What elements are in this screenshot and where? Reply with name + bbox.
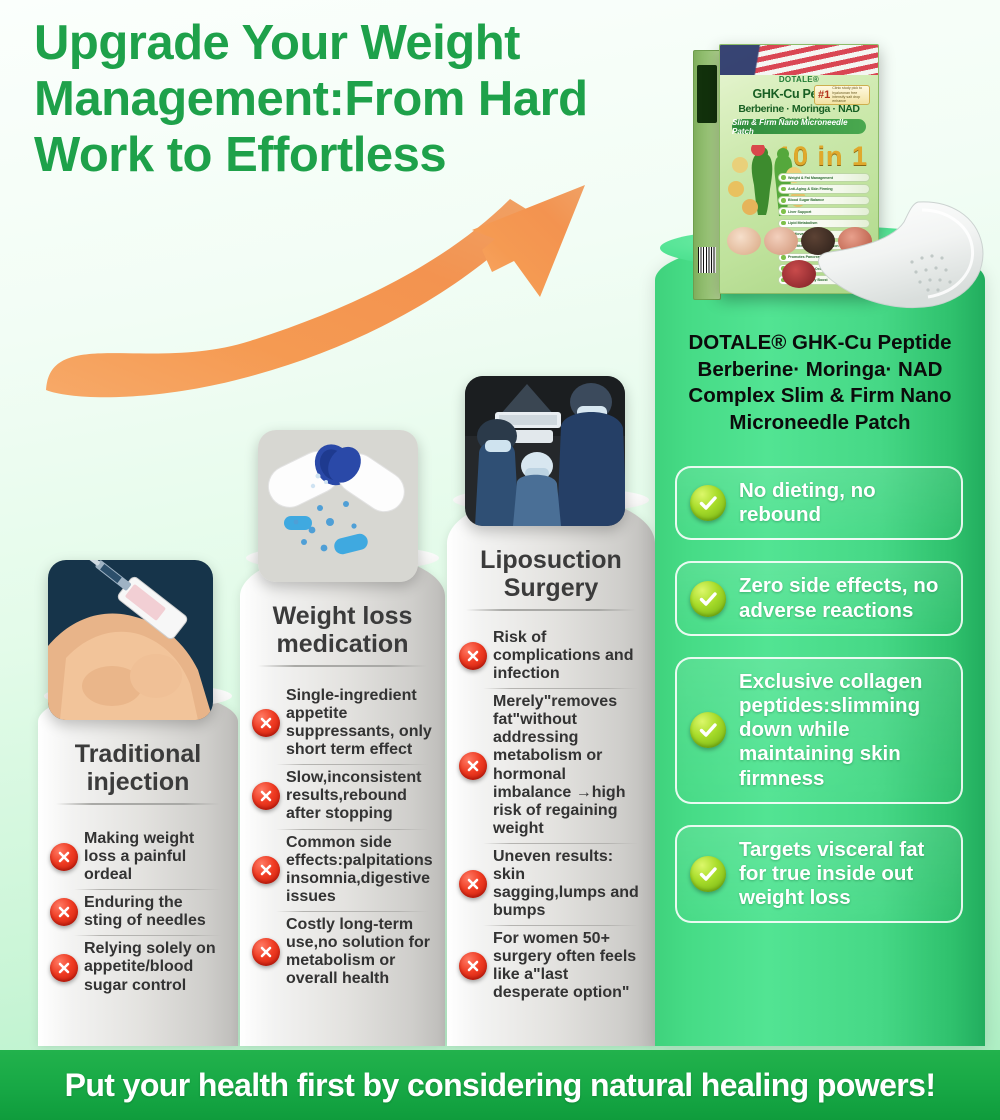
box-feature: Anti-Aging & Skin Firming [778, 184, 870, 193]
number-one-badge: #1 Clinic study pick to hyaluronan free … [814, 85, 870, 105]
check-icon [690, 856, 726, 892]
benefit-card: No dieting, no rebound [675, 466, 963, 540]
list-item-text: Risk of complications and infection [493, 629, 642, 683]
benefit-card: Zero side effects, no adverse reactions [675, 561, 963, 635]
box-brand: DOTALE® [720, 75, 878, 84]
badge-number: #1 [818, 89, 830, 101]
box-ribbon: Slim & Firm Nano Microneedle Patch [732, 119, 866, 134]
product-title: DOTALE® GHK-Cu Peptide Berberine· Moring… [669, 330, 971, 437]
box-spine-graphic [697, 65, 717, 123]
page-headline: Upgrade Your Weight Management:From Hard… [34, 16, 674, 184]
x-icon [50, 954, 78, 982]
benefit-text: Targets visceral fat for true inside out… [739, 838, 949, 911]
pillar-bullet-list: Single-ingredient appetite suppressants,… [240, 682, 445, 993]
list-item-text: Single-ingredient appetite suppressants,… [286, 687, 432, 759]
pillar-title: Weight loss medication [240, 602, 445, 658]
list-item-text: Costly long-term use,no solution for met… [286, 916, 432, 988]
benefit-text: Zero side effects, no adverse reactions [739, 574, 949, 622]
badge-text: Clinic study pick to hyaluronan free int… [832, 86, 869, 104]
insulin-injection-photo [48, 560, 213, 720]
box-photo [764, 227, 798, 255]
list-item-text: For women 50+ surgery often feels like a… [493, 930, 642, 1002]
pillar-weight-loss-medication: Weight loss medication Single-ingredient… [240, 430, 445, 1046]
operating-room-photo [465, 376, 625, 526]
product-pedestal: DOTALE® GHK-Cu Peptide Berberine· Moring… [655, 238, 985, 1046]
product-benefit-list: No dieting, no rebound Zero side effects… [675, 466, 963, 944]
list-item-text: Relying solely on appetite/blood sugar c… [84, 940, 225, 994]
list-item-text: Uneven results: skin sagging,lumps and b… [493, 848, 642, 920]
pillar-title: Traditional injection [38, 740, 238, 796]
list-item: For women 50+ surgery often feels like a… [453, 925, 649, 1007]
list-item: Slow,inconsistent results,rebound after … [246, 764, 439, 828]
list-item: Costly long-term use,no solution for met… [246, 911, 439, 993]
pillar-traditional-injection: Traditional injection Making weight loss… [38, 560, 238, 1046]
barcode [698, 247, 716, 273]
box-photo [727, 227, 761, 255]
usa-flag-banner [720, 45, 878, 75]
bottom-banner: Put your health first by considering nat… [0, 1050, 1000, 1120]
list-item-text: Making weight loss a painful ordeal [84, 830, 225, 884]
check-icon [690, 712, 726, 748]
pillar-title: Liposuction Surgery [447, 546, 655, 602]
pillar-bullet-list: Risk of complications and infection Mere… [447, 624, 655, 1007]
list-item: Risk of complications and infection [453, 624, 649, 688]
x-icon [459, 642, 487, 670]
x-icon [252, 856, 280, 884]
x-icon [252, 709, 280, 737]
list-item: Merely"removes fat"without addressing me… [453, 688, 649, 843]
box-feature: Weight & Fat Management [778, 173, 870, 182]
x-icon [459, 952, 487, 980]
list-item-text: Slow,inconsistent results,rebound after … [286, 769, 432, 823]
x-icon [50, 898, 78, 926]
benefit-card: Targets visceral fat for true inside out… [675, 825, 963, 924]
x-icon [459, 752, 487, 780]
upward-curved-arrow [40, 175, 610, 400]
pillar-liposuction-surgery: Liposuction Surgery Risk of complication… [447, 376, 655, 1046]
x-icon [252, 782, 280, 810]
list-item: Common side effects:palpitations insomni… [246, 829, 439, 911]
list-item: Making weight loss a painful ordeal [44, 825, 232, 889]
pillar-bullet-list: Making weight loss a painful ordeal Endu… [38, 825, 238, 1000]
microneedle-patch-product [800, 200, 990, 310]
list-item-text: Enduring the sting of needles [84, 894, 225, 930]
x-icon [459, 870, 487, 898]
pill-capsules-photo [258, 430, 418, 582]
benefit-text: Exclusive collagen peptides:slimming dow… [739, 670, 949, 791]
banner-text: Put your health first by considering nat… [65, 1067, 936, 1104]
list-item: Enduring the sting of needles [44, 889, 232, 935]
benefit-text: No dieting, no rebound [739, 479, 949, 527]
check-icon [690, 581, 726, 617]
list-item: Single-ingredient appetite suppressants,… [246, 682, 439, 764]
list-item: Relying solely on appetite/blood sugar c… [44, 935, 232, 999]
list-item-text: Merely"removes fat"without addressing me… [493, 693, 642, 838]
benefit-card: Exclusive collagen peptides:slimming dow… [675, 657, 963, 804]
box-spine [693, 50, 721, 300]
check-icon [690, 485, 726, 521]
x-icon [252, 938, 280, 966]
x-icon [50, 843, 78, 871]
list-item: Uneven results: skin sagging,lumps and b… [453, 843, 649, 925]
list-item-text: Common side effects:palpitations insomni… [286, 834, 433, 906]
